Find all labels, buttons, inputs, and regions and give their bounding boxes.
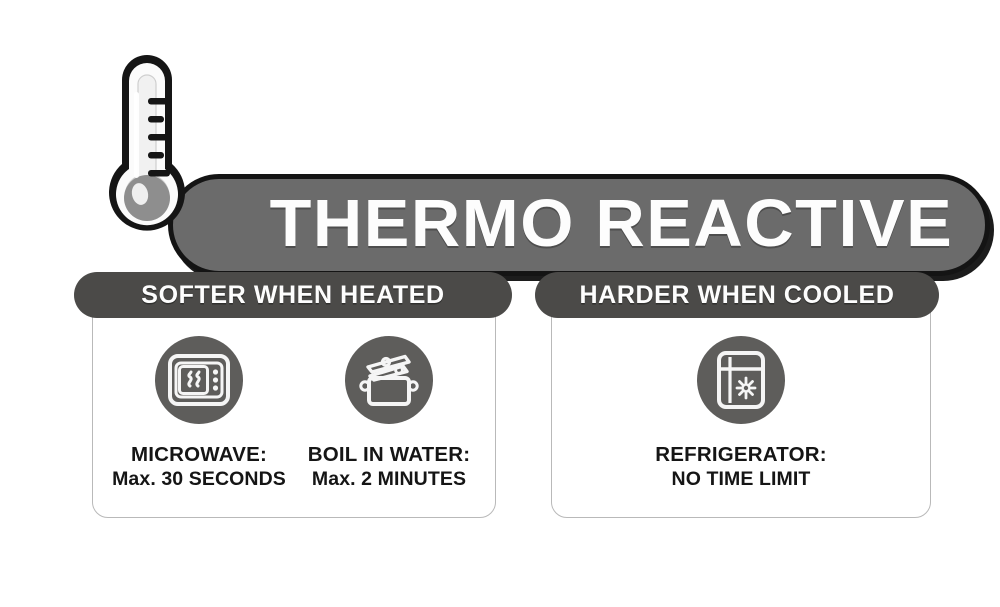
- panel-header-softer-when-heated: SOFTER WHEN HEATED: [74, 272, 512, 318]
- infographic-root: THERMO REACTIVE: [0, 0, 1000, 607]
- panel-header-label: HARDER WHEN COOLED: [580, 281, 895, 310]
- microwave-title: MICROWAVE:: [112, 444, 286, 467]
- refrigerator-caption: REFRIGERATOR: NO TIME LIMIT: [655, 444, 827, 491]
- pot-boiling-icon: [358, 353, 420, 407]
- microwave-icon: [168, 354, 230, 406]
- refrigerator-icon-badge: [697, 336, 785, 424]
- item-boil-in-water: BOIL IN WATER: Max. 2 MINUTES: [294, 336, 484, 491]
- panel-header-harder-when-cooled: HARDER WHEN COOLED: [535, 272, 939, 318]
- microwave-icon-badge: [155, 336, 243, 424]
- refrigerator-icon: [716, 350, 766, 410]
- microwave-subtitle: Max. 30 SECONDS: [112, 469, 286, 491]
- boil-in-water-subtitle: Max. 2 MINUTES: [308, 469, 471, 491]
- items-harder-when-cooled: REFRIGERATOR: NO TIME LIMIT: [551, 336, 931, 491]
- refrigerator-subtitle: NO TIME LIMIT: [655, 469, 827, 491]
- microwave-caption: MICROWAVE: Max. 30 SECONDS: [112, 444, 286, 491]
- boil-in-water-caption: BOIL IN WATER: Max. 2 MINUTES: [308, 444, 471, 491]
- panels-container: SOFTER WHEN HEATED: [0, 0, 1000, 607]
- boil-in-water-title: BOIL IN WATER:: [308, 444, 471, 467]
- panel-header-label: SOFTER WHEN HEATED: [141, 281, 444, 310]
- pot-boiling-icon-badge: [345, 336, 433, 424]
- refrigerator-title: REFRIGERATOR:: [655, 444, 827, 467]
- item-refrigerator: REFRIGERATOR: NO TIME LIMIT: [646, 336, 836, 491]
- items-softer-when-heated: MICROWAVE: Max. 30 SECONDS: [92, 336, 496, 491]
- item-microwave: MICROWAVE: Max. 30 SECONDS: [104, 336, 294, 491]
